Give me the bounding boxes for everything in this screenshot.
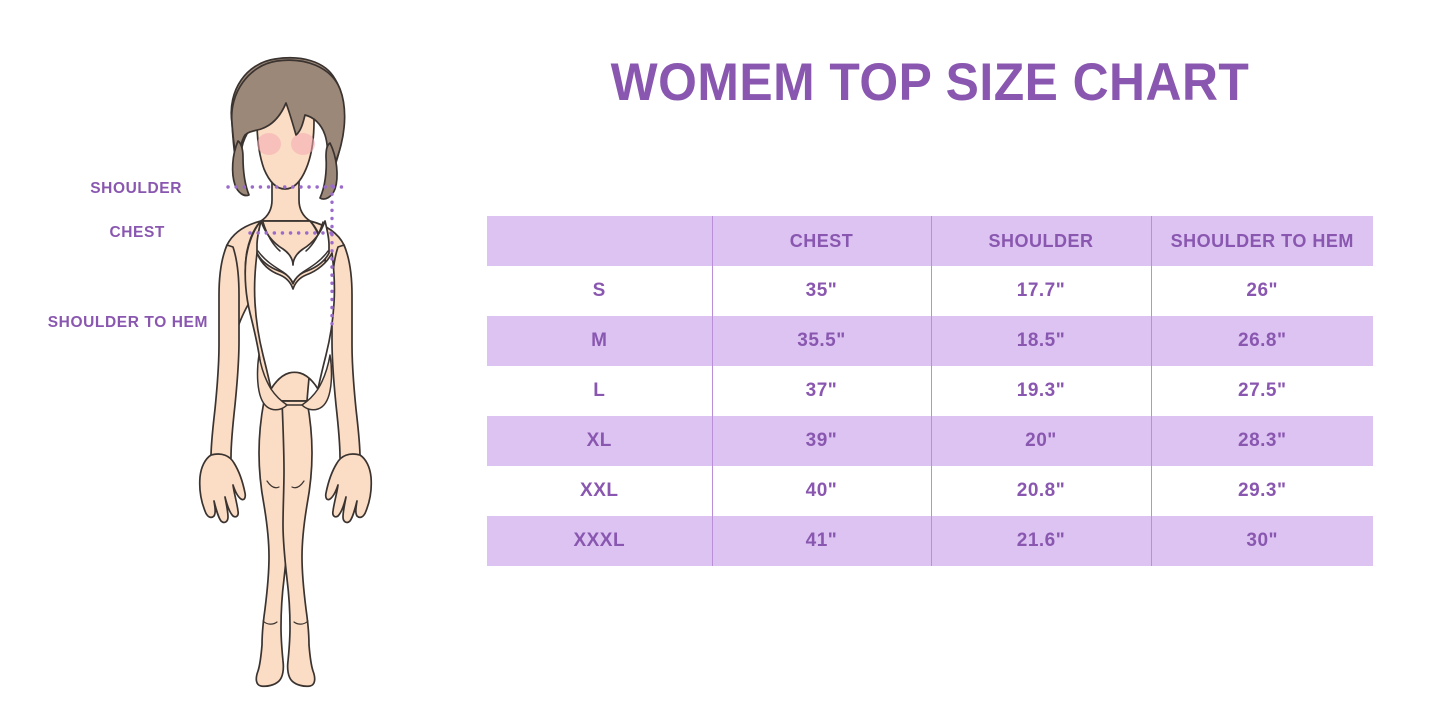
arm-right-shape <box>332 245 360 471</box>
hand-right-shape <box>326 454 372 522</box>
female-figure-illustration <box>175 45 425 690</box>
cell-shoulder-to-hem: 27.5" <box>1151 366 1373 416</box>
table-row: S 35" 17.7" 26" <box>487 266 1373 316</box>
cell-chest: 35.5" <box>712 316 931 366</box>
cell-shoulder: 17.7" <box>931 266 1151 316</box>
table-row: M 35.5" 18.5" 26.8" <box>487 316 1373 366</box>
table-header-row: CHEST SHOULDER SHOULDER TO HEM <box>487 216 1373 266</box>
column-header-size <box>487 216 712 266</box>
column-header-shoulder-to-hem: SHOULDER TO HEM <box>1151 216 1373 266</box>
cell-size: S <box>487 266 712 316</box>
leg-right-shape <box>282 401 315 686</box>
measure-label-chest: CHEST <box>0 224 165 242</box>
cell-chest: 40" <box>712 466 931 516</box>
column-header-chest: CHEST <box>712 216 931 266</box>
cell-shoulder-to-hem: 28.3" <box>1151 416 1373 466</box>
cell-shoulder-to-hem: 26" <box>1151 266 1373 316</box>
table-row: XL 39" 20" 28.3" <box>487 416 1373 466</box>
cell-size: M <box>487 316 712 366</box>
blush-left <box>257 133 281 155</box>
cell-shoulder-to-hem: 26.8" <box>1151 316 1373 366</box>
hand-left-shape <box>200 454 246 522</box>
table-row: L 37" 19.3" 27.5" <box>487 366 1373 416</box>
table-body: S 35" 17.7" 26" M 35.5" 18.5" 26.8" L 37… <box>487 266 1373 566</box>
cell-shoulder: 20.8" <box>931 466 1151 516</box>
cell-shoulder-to-hem: 30" <box>1151 516 1373 566</box>
measure-label-shoulder: SHOULDER <box>0 180 182 198</box>
cell-chest: 41" <box>712 516 931 566</box>
measure-label-shoulder-to-hem: SHOULDER TO HEM <box>0 314 208 332</box>
cell-size: XL <box>487 416 712 466</box>
cell-size: L <box>487 366 712 416</box>
cell-shoulder: 18.5" <box>931 316 1151 366</box>
cell-shoulder: 21.6" <box>931 516 1151 566</box>
cell-size: XXXL <box>487 516 712 566</box>
blush-right <box>291 133 315 155</box>
arm-left-shape <box>211 245 239 471</box>
size-chart-table: CHEST SHOULDER SHOULDER TO HEM S 35" 17.… <box>487 216 1373 566</box>
cell-shoulder-to-hem: 29.3" <box>1151 466 1373 516</box>
cell-chest: 39" <box>712 416 931 466</box>
table-row: XXL 40" 20.8" 29.3" <box>487 466 1373 516</box>
cell-chest: 37" <box>712 366 931 416</box>
table-row: XXXL 41" 21.6" 30" <box>487 516 1373 566</box>
column-header-shoulder: SHOULDER <box>931 216 1151 266</box>
cell-shoulder: 19.3" <box>931 366 1151 416</box>
cell-chest: 35" <box>712 266 931 316</box>
cell-size: XXL <box>487 466 712 516</box>
page-title: WOMEM TOP SIZE CHART <box>488 52 1372 113</box>
cell-shoulder: 20" <box>931 416 1151 466</box>
table-header: CHEST SHOULDER SHOULDER TO HEM <box>487 216 1373 266</box>
